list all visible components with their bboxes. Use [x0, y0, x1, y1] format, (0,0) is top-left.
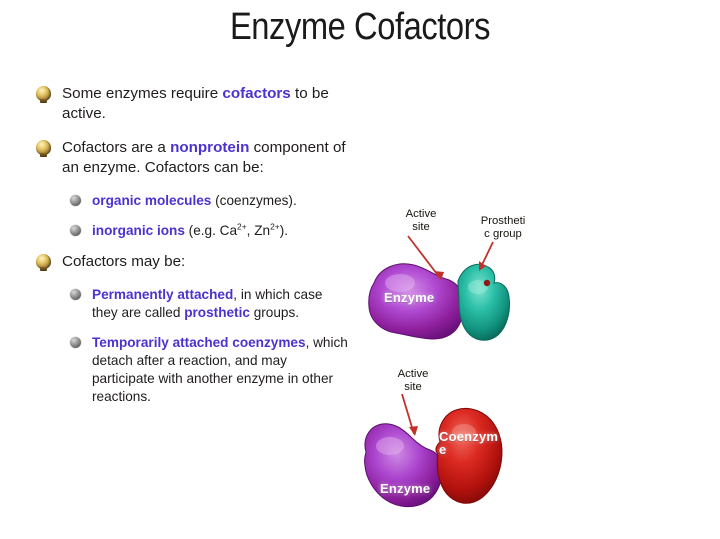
- prosthetic-group-callout: Prostheti c group: [471, 215, 535, 240]
- bullet-item: Some enzymes require cofactors to be act…: [30, 84, 350, 124]
- sub-bullet-item: Permanently attached, in which case they…: [62, 286, 350, 322]
- sub-bullet-text: organic molecules (coenzymes).: [92, 192, 350, 210]
- enzyme-coenzyme-blob-shape: [356, 398, 536, 533]
- bullet-text: Some enzymes require cofactors to be act…: [62, 84, 350, 124]
- sub-bullet-item: inorganic ions (e.g. Ca2+, Zn2+).: [62, 222, 350, 240]
- sub-bullet-item: Temporarily attached coenzymes, which de…: [62, 334, 350, 406]
- enzyme-blob-shape: [707, 88, 720, 218]
- bullet-item: Cofactors are a nonprotein component of …: [30, 138, 350, 178]
- body-text: groups.: [250, 305, 299, 320]
- bullet-item: Cofactors may be:: [30, 252, 350, 272]
- sub-bullet-list: organic molecules (coenzymes).inorganic …: [62, 192, 350, 240]
- sub-bullet-list: Permanently attached, in which case they…: [62, 286, 350, 406]
- body-text: Cofactors are a: [62, 139, 170, 156]
- bullet-list: Some enzymes require cofactors to be act…: [30, 84, 350, 418]
- highlighted-term: organic molecules: [92, 193, 211, 208]
- body-text: Some enzymes require: [62, 85, 222, 102]
- highlighted-term: prosthetic: [184, 305, 250, 320]
- diagram-enzyme-only: Active site Enzyme Enzyme is protein onl…: [352, 62, 720, 202]
- highlighted-term: nonprotein: [170, 139, 249, 156]
- superscript-charge: 2+: [237, 221, 247, 231]
- bullet-text: Cofactors may be:: [62, 252, 350, 272]
- lightbulb-icon: [36, 86, 51, 101]
- highlighted-term: Temporarily attached coenzymes: [92, 335, 306, 350]
- lightbulb-icon: [36, 140, 51, 155]
- sphere-icon: [70, 337, 81, 348]
- bullet-text: Cofactors are a nonprotein component of …: [62, 138, 350, 178]
- diagram-enzyme-coenzyme: Active site Coenzym e Enzym: [352, 368, 720, 533]
- page-title: Enzyme Cofactors: [50, 6, 669, 49]
- superscript-charge: 2+: [270, 221, 280, 231]
- sphere-icon: [70, 289, 81, 300]
- body-text: Cofactors may be:: [62, 253, 185, 270]
- body-text: , Zn: [247, 223, 270, 238]
- sphere-icon: [70, 195, 81, 206]
- active-site-arrow: [396, 392, 446, 450]
- sub-bullet-text: Temporarily attached coenzymes, which de…: [92, 334, 350, 406]
- prosthetic-group-arrow: [469, 240, 529, 300]
- body-text: (e.g. Ca: [185, 223, 237, 238]
- lightbulb-icon: [36, 254, 51, 269]
- active-site-callout: Active site: [382, 368, 444, 393]
- body-text: ).: [280, 223, 288, 238]
- diagram-enzyme-prosthetic: Active site Prostheti c group: [352, 208, 720, 358]
- body-text: (coenzymes).: [211, 193, 296, 208]
- active-site-arrow: [404, 234, 464, 294]
- sub-bullet-text: inorganic ions (e.g. Ca2+, Zn2+).: [92, 222, 350, 240]
- active-site-callout: Active site: [390, 208, 452, 233]
- highlighted-term: inorganic ions: [92, 223, 185, 238]
- highlighted-term: Permanently attached: [92, 287, 233, 302]
- sphere-icon: [70, 225, 81, 236]
- sub-bullet-text: Permanently attached, in which case they…: [92, 286, 350, 322]
- sub-bullet-item: organic molecules (coenzymes).: [62, 192, 350, 210]
- highlighted-term: cofactors: [222, 85, 290, 102]
